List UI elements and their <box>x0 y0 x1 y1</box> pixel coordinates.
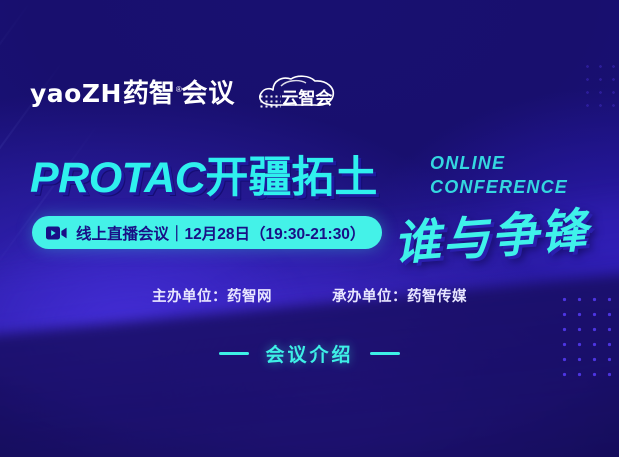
calligraphy-slogan: 谁与争锋 <box>391 191 591 274</box>
conference-poster: yaoZH 药智 ® 会议 云智会 PROTAC开疆拓土 ONLINE CONF… <box>0 0 619 457</box>
headline-latin: PROTAC <box>30 154 205 202</box>
online-conference-label: ONLINE CONFERENCE <box>430 152 568 200</box>
organizers-row: 主办单位：药智网 承办单位：药智传媒 <box>0 285 619 306</box>
video-camera-icon <box>46 226 67 240</box>
yunzhihui-cloud-logo: 云智会 <box>251 72 343 114</box>
logo-row: yaoZH 药智 ® 会议 云智会 <box>30 72 343 114</box>
dash-left-decoration <box>219 352 249 355</box>
cloud-logo-text: 云智会 <box>281 84 332 109</box>
headline-chinese: 开疆拓土 <box>205 154 377 202</box>
section-heading: 会议介绍 <box>0 340 619 367</box>
dash-right-decoration <box>370 352 400 355</box>
banner-text: 线上直播会议｜12月28日（19:30-21:30） <box>76 222 365 244</box>
cloud-dots-decoration <box>259 94 281 108</box>
logo-latin-text: yaoZH <box>30 81 122 106</box>
yaozhi-logo: yaoZH 药智 ® 会议 <box>30 80 235 106</box>
live-broadcast-banner[interactable]: 线上直播会议｜12月28日（19:30-21:30） <box>32 216 382 249</box>
registered-trademark-icon: ® <box>176 85 181 94</box>
online-conference-line1: ONLINE <box>430 152 568 176</box>
logo-suffix-text: 会议 <box>181 80 235 106</box>
host-organization: 主办单位：药智网 <box>152 285 272 306</box>
co-organizer-organization: 承办单位：药智传媒 <box>332 285 467 306</box>
page-title: PROTAC开疆拓土 <box>30 143 377 205</box>
logo-chinese-text: 药智 <box>123 80 175 106</box>
section-title: 会议介绍 <box>265 340 353 367</box>
